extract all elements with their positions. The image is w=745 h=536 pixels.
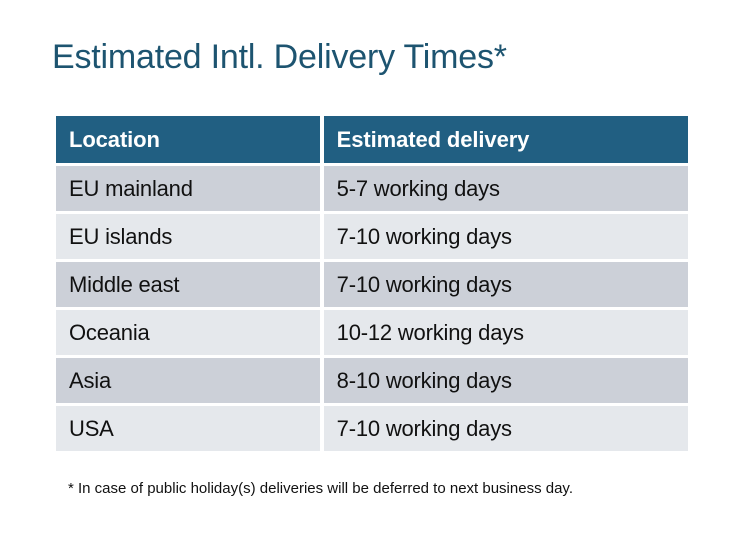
cell-location: Middle east <box>56 262 320 307</box>
table-row: EU mainland 5-7 working days <box>56 166 688 211</box>
cell-delivery: 7-10 working days <box>324 406 688 451</box>
page-title: Estimated Intl. Delivery Times* <box>52 36 507 78</box>
footnote: * In case of public holiday(s) deliverie… <box>68 479 573 499</box>
table-header-row: Location Estimated delivery <box>56 116 688 163</box>
table-header: Location Estimated delivery <box>56 116 688 163</box>
column-header-estimated-delivery: Estimated delivery <box>324 116 688 163</box>
cell-delivery: 7-10 working days <box>324 262 688 307</box>
cell-location: EU mainland <box>56 166 320 211</box>
cell-delivery: 10-12 working days <box>324 310 688 355</box>
table-row: EU islands 7-10 working days <box>56 214 688 259</box>
cell-delivery: 8-10 working days <box>324 358 688 403</box>
delivery-times-table: Location Estimated delivery EU mainland … <box>52 113 692 454</box>
table-row: USA 7-10 working days <box>56 406 688 451</box>
cell-location: EU islands <box>56 214 320 259</box>
cell-location: USA <box>56 406 320 451</box>
table-row: Middle east 7-10 working days <box>56 262 688 307</box>
cell-delivery: 7-10 working days <box>324 214 688 259</box>
delivery-times-page: Estimated Intl. Delivery Times* Location… <box>0 0 745 536</box>
cell-location: Oceania <box>56 310 320 355</box>
table-body: EU mainland 5-7 working days EU islands … <box>56 166 688 451</box>
table-row: Asia 8-10 working days <box>56 358 688 403</box>
column-header-location: Location <box>56 116 320 163</box>
cell-location: Asia <box>56 358 320 403</box>
table-row: Oceania 10-12 working days <box>56 310 688 355</box>
cell-delivery: 5-7 working days <box>324 166 688 211</box>
